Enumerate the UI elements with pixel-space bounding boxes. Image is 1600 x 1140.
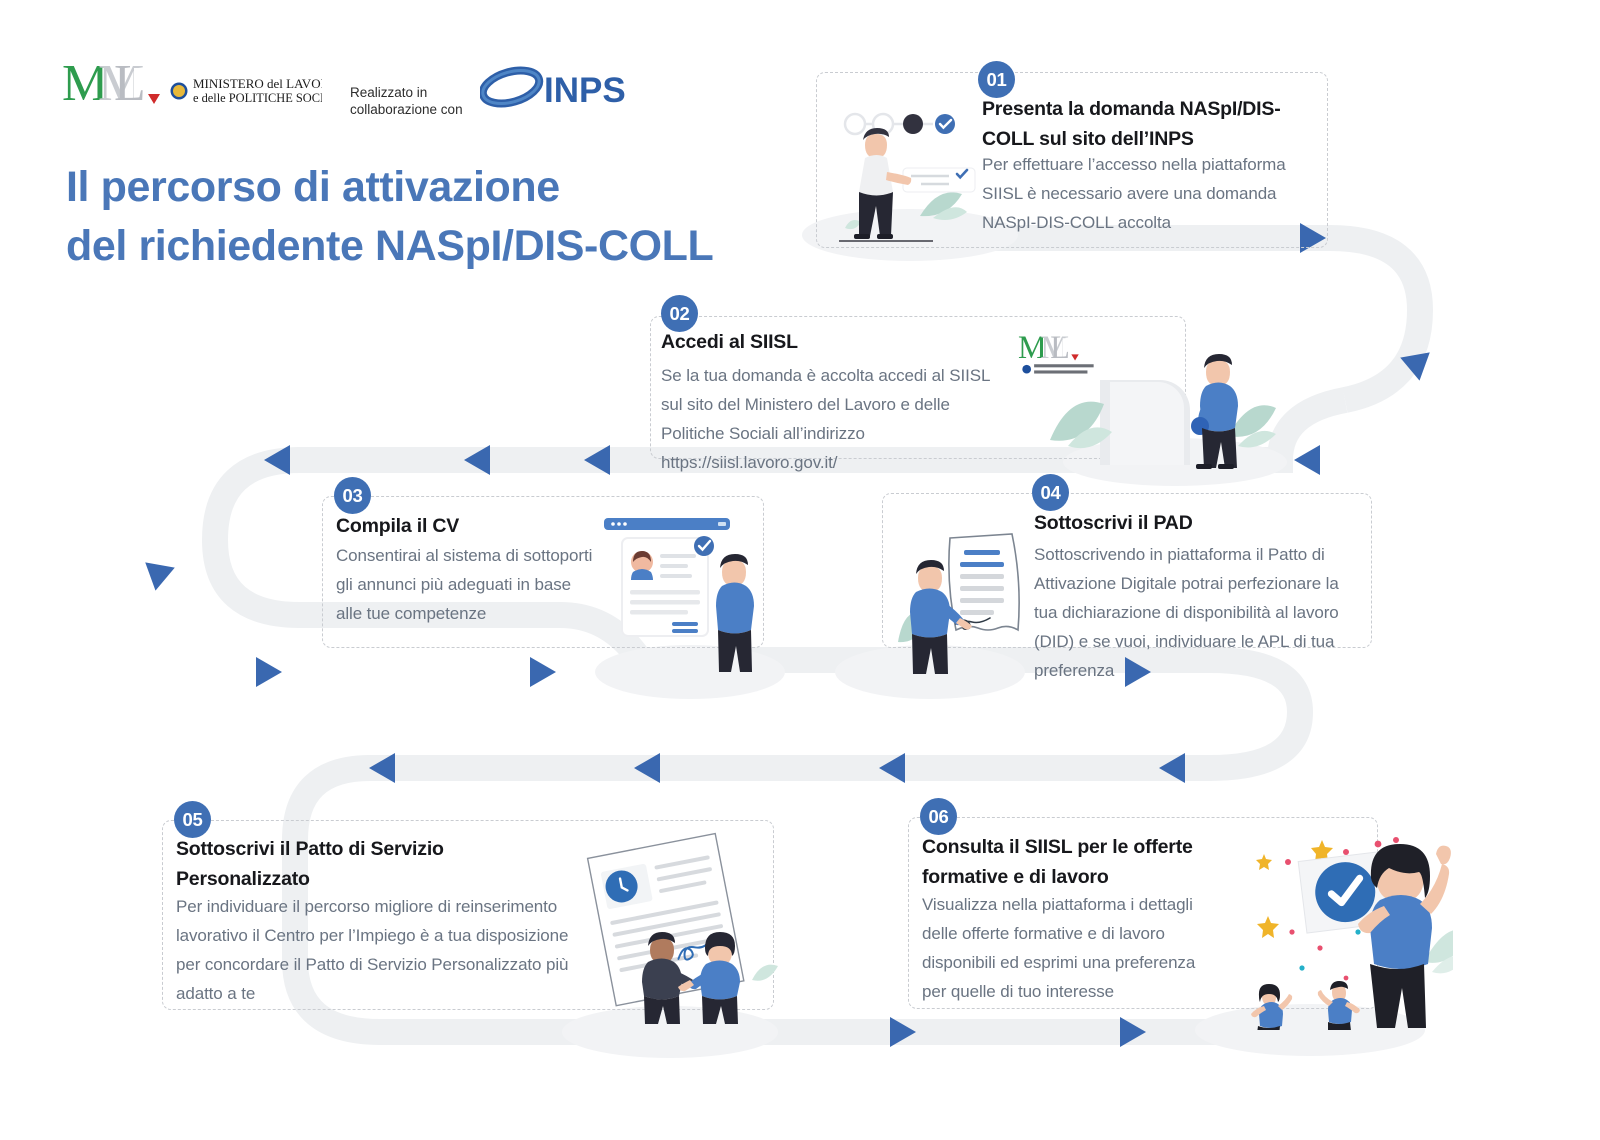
step-illustration-05 <box>580 830 780 1025</box>
step-title-04: Sottoscrivi il PAD <box>1034 508 1324 538</box>
flow-arrow <box>530 657 556 687</box>
step-title-01: Presenta la domanda NASpI/DIS-COLL sul s… <box>982 94 1322 154</box>
step-badge-06: 06 <box>920 798 957 835</box>
flow-arrow <box>141 562 175 593</box>
infographic-canvas: M M L MINISTERO del LAVORO e delle POLIT… <box>0 0 1600 1140</box>
inps-logo: INPS <box>480 66 625 112</box>
step-body-02: Se la tua domanda è accolta accedi al SI… <box>661 361 1001 477</box>
step-badge-01: 01 <box>978 61 1015 98</box>
step-title-02: Accedi al SIISL <box>661 327 991 357</box>
page-title-line-2: del richiedente NASpI/DIS-COLL <box>66 217 786 276</box>
collaboration-note: Realizzato in collaborazione con <box>350 84 470 118</box>
step-badge-05: 05 <box>174 801 211 838</box>
step-body-06: Visualizza nella piattaforma i dettagli … <box>922 890 1222 1006</box>
flow-arrow <box>1294 445 1320 475</box>
ministry-of-labour-logo: M M L MINISTERO del LAVORO e delle POLIT… <box>62 58 322 114</box>
step-title-05: Sottoscrivi il Patto di Servizio Persona… <box>176 834 476 894</box>
step-body-04: Sottoscrivendo in piattaforma il Patto d… <box>1034 540 1364 685</box>
step-title-03: Compila il CV <box>336 511 596 541</box>
ministry-logo-line2: e delle POLITICHE SOCIALI <box>193 91 322 105</box>
inps-wordmark: INPS <box>544 71 625 110</box>
step-illustration-04 <box>890 520 1040 675</box>
page-title: Il percorso di attivazione del richieden… <box>66 158 786 276</box>
step-illustration-01 <box>825 96 1005 251</box>
collab-line-1: Realizzato in <box>350 84 470 101</box>
step-title-06: Consulta il SIISL per le offerte formati… <box>922 832 1242 892</box>
svg-text:L: L <box>114 58 146 112</box>
step-body-03: Consentirai al sistema di sottoporti gli… <box>336 541 598 628</box>
step-badge-04: 04 <box>1032 474 1069 511</box>
flow-arrow <box>256 657 282 687</box>
page-title-line-1: Il percorso di attivazione <box>66 158 786 217</box>
step-badge-03: 03 <box>334 477 371 514</box>
collab-line-2: collaborazione con <box>350 101 470 118</box>
step-illustration-02: M M L <box>1010 320 1280 470</box>
step-body-05: Per individuare il percorso migliore di … <box>176 892 576 1008</box>
step-body-01: Per effettuare l’accesso nella piattafor… <box>982 150 1302 237</box>
ministry-logo-line1: MINISTERO del LAVORO <box>193 76 322 91</box>
step-illustration-06 <box>1228 812 1453 1030</box>
svg-text:L: L <box>1050 329 1070 365</box>
step-illustration-03 <box>600 510 765 675</box>
